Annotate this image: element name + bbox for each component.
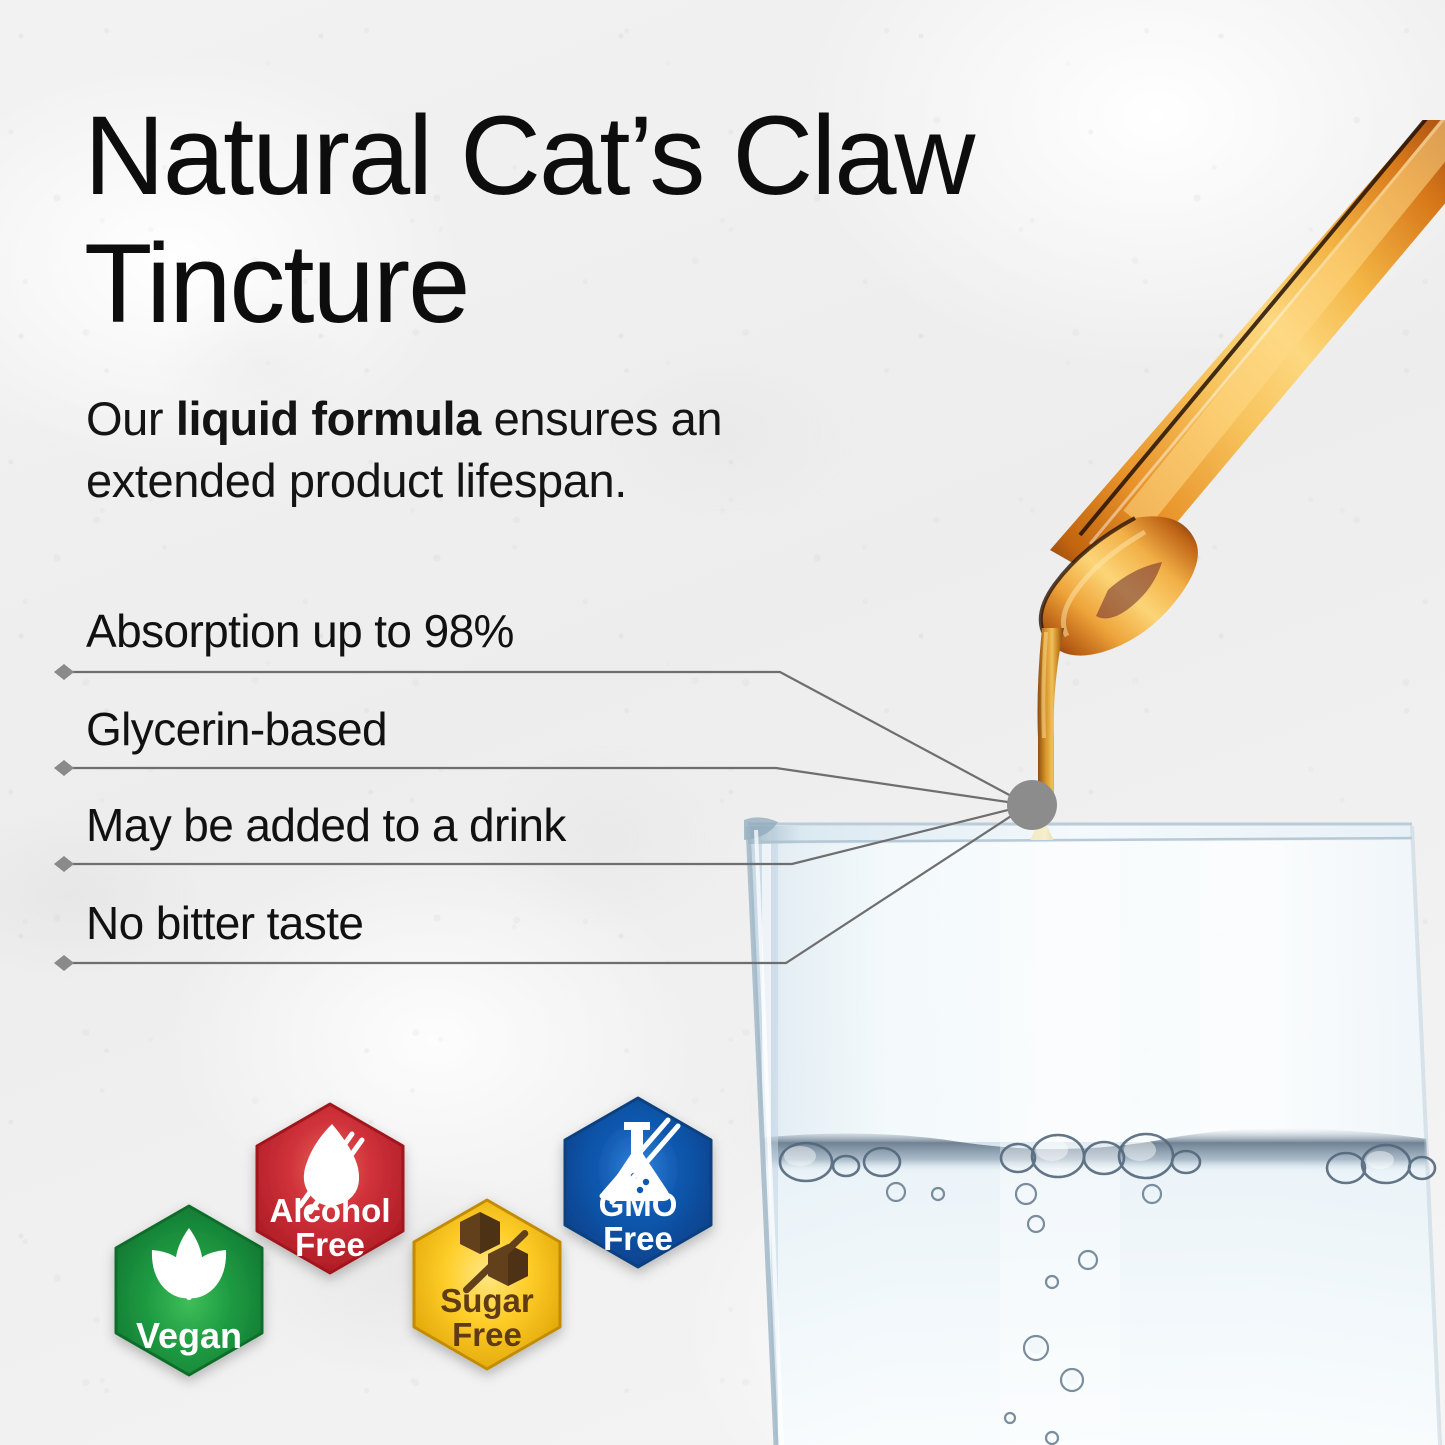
badge-gmo-free[interactable]: GMO Free bbox=[565, 1098, 711, 1267]
product-infographic: Natural Cat’s Claw Tincture Our liquid f… bbox=[0, 0, 1445, 1445]
badge-vegan[interactable]: Vegan bbox=[116, 1206, 262, 1375]
badge-label-alcohol-line2: Free bbox=[295, 1226, 365, 1263]
badge-label-sugar-line2: Free bbox=[452, 1316, 522, 1353]
badge-label-gmo-line2: Free bbox=[603, 1220, 673, 1257]
badge-label-alcohol-line1: Alcohol bbox=[270, 1192, 391, 1229]
badge-alcohol-free[interactable]: Alcohol Free bbox=[257, 1104, 403, 1273]
certification-badges: Vegan Alcohol Free bbox=[0, 0, 1445, 1445]
badge-label-gmo-line1: GMO bbox=[599, 1186, 678, 1223]
badge-sugar-free[interactable]: Sugar Free bbox=[414, 1200, 560, 1369]
badge-label-sugar-line1: Sugar bbox=[440, 1282, 534, 1319]
badge-label-vegan: Vegan bbox=[136, 1315, 242, 1356]
